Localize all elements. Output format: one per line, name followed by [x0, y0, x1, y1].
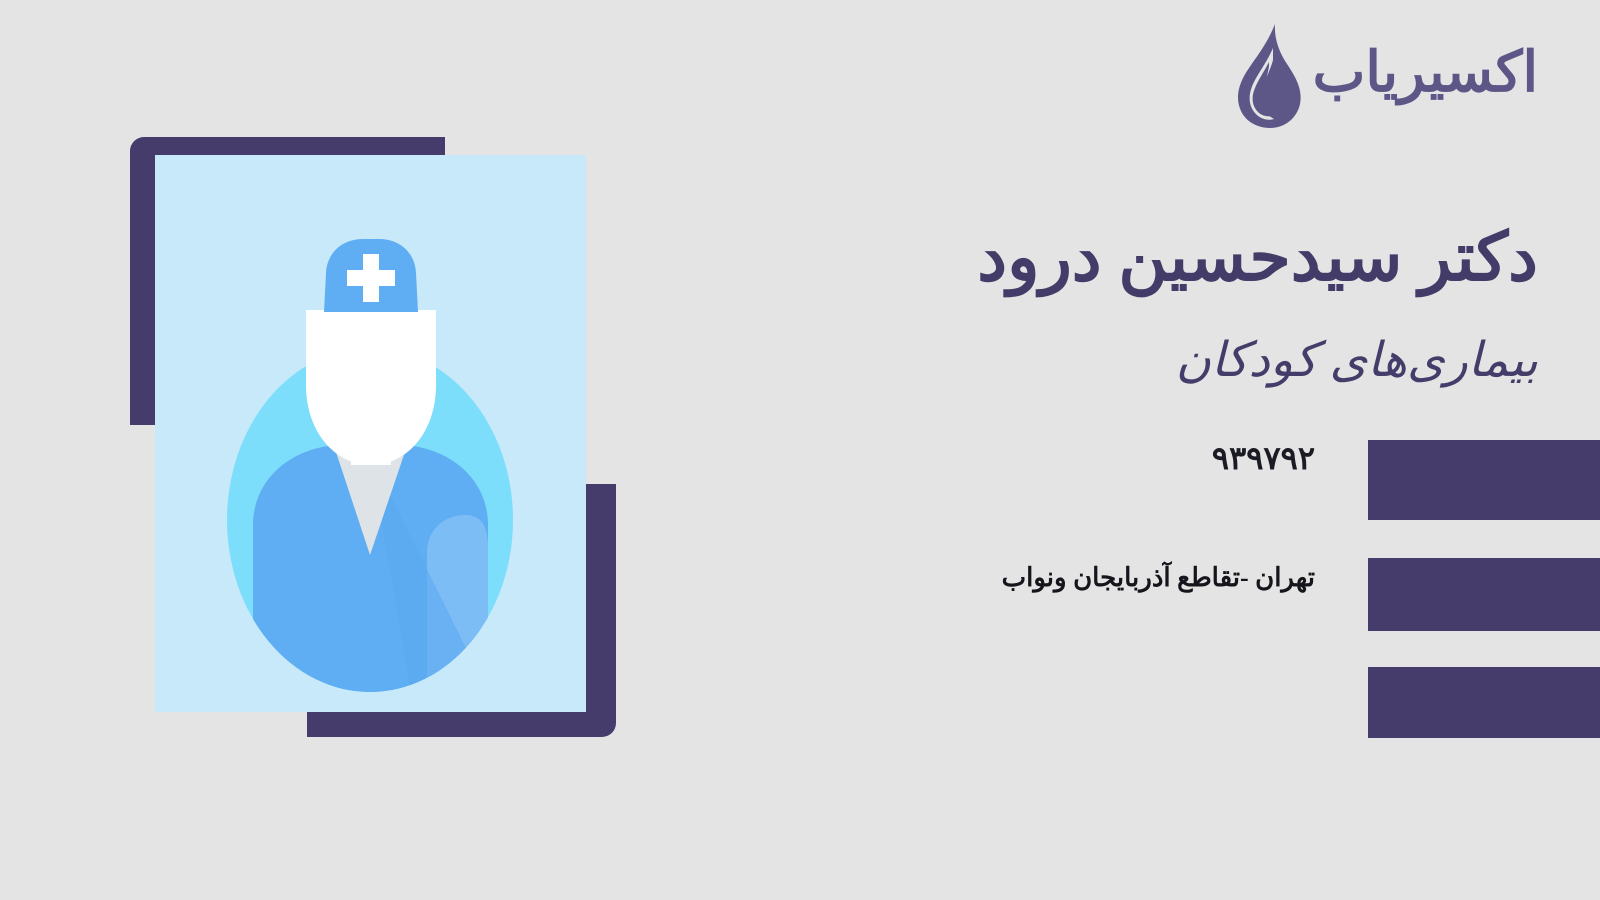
business-card-canvas: اکسیریاب [0, 0, 1600, 900]
decorative-bar-3 [1368, 667, 1600, 738]
phone-number: ۹۳۹۷۹۲ [1212, 442, 1315, 474]
address-line: تهران -تقاطع آذربایجان ونواب [1002, 565, 1315, 591]
doctor-avatar-icon [155, 155, 586, 712]
doctor-info-panel: دکتر سیدحسین درود بیماری‌های کودکان ۹۳۹۷… [780, 0, 1600, 900]
avatar-face [306, 310, 436, 465]
doctor-photo-frame [155, 155, 586, 712]
page-title: دکتر سیدحسین درود [977, 222, 1538, 296]
illustration-group [0, 0, 700, 900]
decorative-bar-1 [1368, 440, 1600, 520]
avatar-body-group [253, 443, 488, 692]
specialty-label: بیماری‌های کودکان [1176, 332, 1538, 390]
decorative-bar-2 [1368, 558, 1600, 631]
